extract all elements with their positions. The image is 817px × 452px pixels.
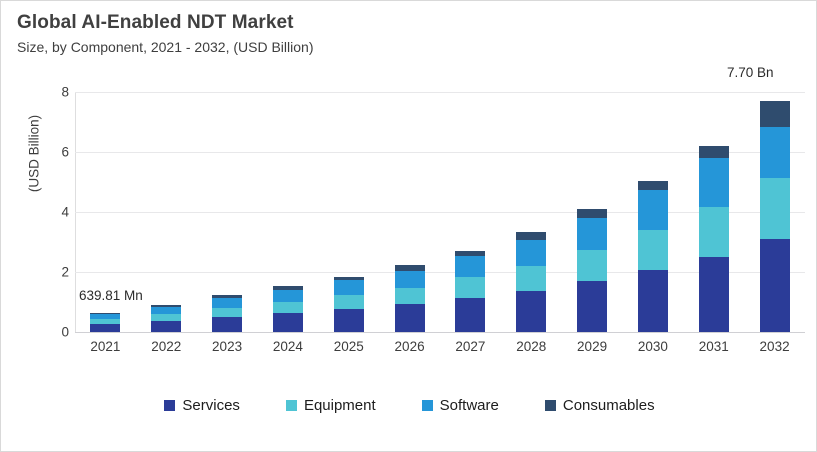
plot-area: [75, 92, 805, 332]
bar-group[interactable]: [90, 313, 120, 332]
bar-group[interactable]: [516, 232, 546, 332]
bar-segment[interactable]: [334, 309, 364, 332]
bar-segment[interactable]: [273, 313, 303, 332]
x-tick-label: 2022: [136, 339, 197, 354]
bar-segment[interactable]: [516, 266, 546, 291]
gridline: [75, 92, 805, 93]
page-title: Global AI-Enabled NDT Market: [17, 11, 717, 35]
bar-segment[interactable]: [516, 291, 546, 332]
y-axis-title: (USD Billion): [27, 59, 42, 249]
bar-segment[interactable]: [577, 250, 607, 281]
bar-segment[interactable]: [212, 308, 242, 317]
x-tick-label: 2023: [197, 339, 258, 354]
bar-segment[interactable]: [577, 218, 607, 250]
legend-swatch-icon: [286, 400, 297, 411]
annotation-first-value: 639.81 Mn: [79, 288, 143, 303]
x-tick-label: 2029: [562, 339, 623, 354]
bar-group[interactable]: [760, 101, 790, 332]
x-tick-label: 2024: [258, 339, 319, 354]
bar-segment[interactable]: [516, 232, 546, 240]
x-tick-label: 2026: [379, 339, 440, 354]
y-tick-label: 0: [11, 325, 69, 340]
bar-segment[interactable]: [151, 307, 181, 314]
annotation-last-value: 7.70 Bn: [727, 65, 774, 80]
bar-segment[interactable]: [516, 240, 546, 266]
bar-group[interactable]: [395, 265, 425, 332]
gridline: [75, 152, 805, 153]
bar-segment[interactable]: [638, 270, 668, 332]
bar-group[interactable]: [577, 209, 607, 332]
legend-item-equipment[interactable]: Equipment: [286, 397, 376, 414]
x-tick-label: 2028: [501, 339, 562, 354]
gridline: [75, 272, 805, 273]
bar-segment[interactable]: [577, 281, 607, 332]
bar-segment[interactable]: [638, 181, 668, 190]
bar-segment[interactable]: [455, 298, 485, 333]
bar-segment[interactable]: [760, 178, 790, 240]
bar-segment[interactable]: [395, 304, 425, 332]
title-block: Global AI-Enabled NDT Market Size, by Co…: [17, 11, 717, 57]
y-tick-label: 2: [11, 265, 69, 280]
x-tick-label: 2021: [75, 339, 136, 354]
x-tick-label: 2030: [623, 339, 684, 354]
bar-segment[interactable]: [334, 295, 364, 309]
legend-swatch-icon: [545, 400, 556, 411]
bar-group[interactable]: [638, 181, 668, 332]
bar-group[interactable]: [212, 295, 242, 332]
legend-item-services[interactable]: Services: [164, 397, 240, 414]
bar-group[interactable]: [273, 286, 303, 332]
bar-segment[interactable]: [638, 190, 668, 230]
chart-subtitle: Size, by Component, 2021 - 2032, (USD Bi…: [17, 37, 717, 57]
bar-group[interactable]: [455, 251, 485, 332]
chart-container: Global AI-Enabled NDT Market Size, by Co…: [0, 0, 817, 452]
bar-segment[interactable]: [455, 277, 485, 297]
legend-label: Software: [440, 397, 499, 414]
bar-group[interactable]: [151, 305, 181, 332]
x-tick-label: 2032: [744, 339, 805, 354]
bar-group[interactable]: [699, 146, 729, 332]
bar-segment[interactable]: [151, 314, 181, 321]
bar-segment[interactable]: [699, 146, 729, 158]
legend-label: Consumables: [563, 397, 655, 414]
legend-swatch-icon: [422, 400, 433, 411]
x-tick-label: 2031: [683, 339, 744, 354]
bar-segment[interactable]: [395, 271, 425, 288]
bar-segment[interactable]: [760, 239, 790, 332]
bar-segment[interactable]: [273, 302, 303, 313]
bar-segment[interactable]: [577, 209, 607, 218]
bar-segment[interactable]: [699, 158, 729, 207]
legend-label: Services: [182, 397, 240, 414]
bar-segment[interactable]: [699, 257, 729, 332]
bar-segment[interactable]: [334, 280, 364, 295]
x-axis-labels: 2021202220232024202520262027202820292030…: [75, 339, 805, 361]
bar-segment[interactable]: [395, 288, 425, 305]
bar-segment[interactable]: [273, 290, 303, 302]
bar-segment[interactable]: [90, 324, 120, 332]
legend-item-consumables[interactable]: Consumables: [545, 397, 655, 414]
legend-item-software[interactable]: Software: [422, 397, 499, 414]
bar-segment[interactable]: [151, 321, 181, 332]
bar-group[interactable]: [334, 277, 364, 332]
bar-segment[interactable]: [212, 298, 242, 308]
legend-swatch-icon: [164, 400, 175, 411]
gridline: [75, 212, 805, 213]
x-tick-label: 2025: [318, 339, 379, 354]
x-tick-label: 2027: [440, 339, 501, 354]
bar-segment[interactable]: [638, 230, 668, 270]
bar-segment[interactable]: [455, 256, 485, 277]
bar-segment[interactable]: [699, 207, 729, 257]
chart-legend: ServicesEquipmentSoftwareConsumables: [1, 397, 817, 414]
gridline: [75, 332, 805, 333]
legend-label: Equipment: [304, 397, 376, 414]
bar-segment[interactable]: [212, 317, 242, 332]
bar-segment[interactable]: [760, 101, 790, 127]
bar-segment[interactable]: [760, 127, 790, 177]
